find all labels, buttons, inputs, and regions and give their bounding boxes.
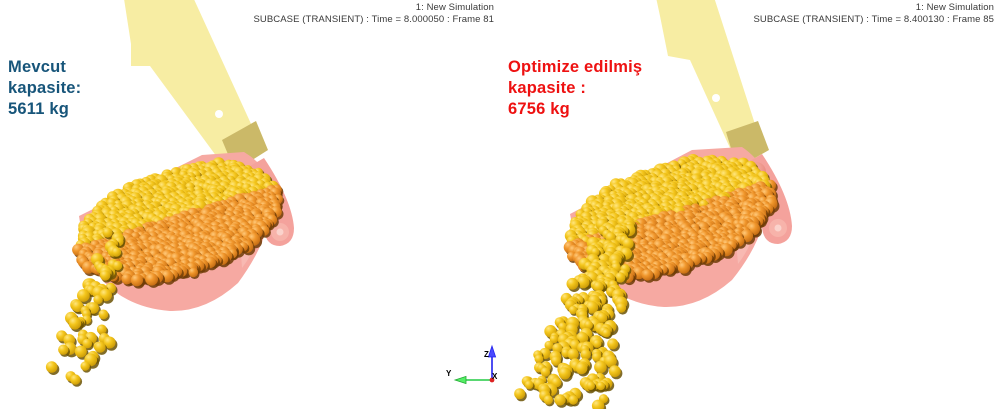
simulation-panel-left: 1: New Simulation SUBCASE (TRANSIENT) : … xyxy=(0,0,500,409)
simulation-panel-right: 1: New Simulation SUBCASE (TRANSIENT) : … xyxy=(500,0,1000,409)
axis-y-arrow xyxy=(455,376,492,383)
axis-label-y: Y xyxy=(446,369,451,378)
boom-arm-right xyxy=(648,0,769,170)
caption-current-capacity: Mevcut kapasite: 5611 kg xyxy=(8,57,81,120)
caption-optimized-capacity: Optimize edilmiş kapasite : 6756 kg xyxy=(508,57,642,120)
header-simulation-name-left: 1: New Simulation xyxy=(416,2,494,14)
axis-triad-svg xyxy=(440,322,504,392)
particle-field-right xyxy=(514,154,779,409)
simulation-comparison-image: 1: New Simulation SUBCASE (TRANSIENT) : … xyxy=(0,0,1000,409)
header-subcase-left: SUBCASE (TRANSIENT) : Time = 8.000050 : … xyxy=(253,14,494,26)
header-subcase-right: SUBCASE (TRANSIENT) : Time = 8.400130 : … xyxy=(753,14,994,26)
header-simulation-name-right: 1: New Simulation xyxy=(916,2,994,14)
axis-label-z: Z xyxy=(484,350,489,359)
particle-field-left xyxy=(46,157,284,386)
axis-label-x: X xyxy=(492,372,497,381)
boom-arm-left xyxy=(118,0,268,172)
axis-triad: Z Y X xyxy=(440,322,504,392)
